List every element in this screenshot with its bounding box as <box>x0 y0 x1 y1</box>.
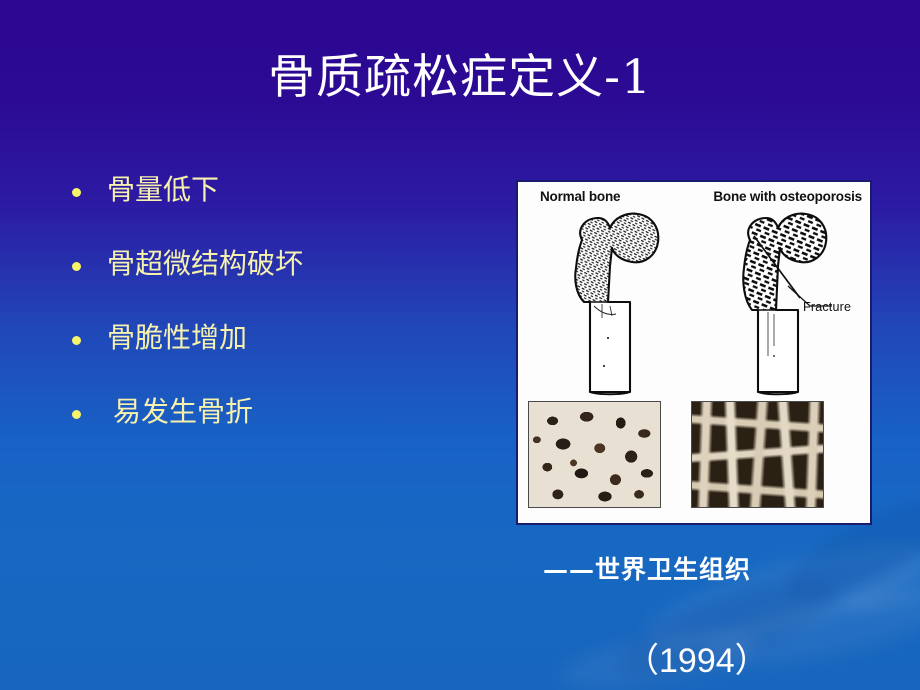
caption-osteoporotic-bone: Bone with osteoporosis <box>711 189 870 204</box>
micrograph-osteoporotic-texture <box>692 402 823 507</box>
bone-diagrams: Fracture <box>518 204 870 399</box>
bullet-dot-icon <box>72 188 81 197</box>
bullet-label: 骨量低下 <box>107 174 219 206</box>
bone-micrographs <box>518 399 870 519</box>
bullet-dot-icon <box>72 410 81 419</box>
bullet-item: 骨量低下 <box>72 174 492 248</box>
fracture-annotation-label: Fracture <box>803 300 851 314</box>
bullet-item: 骨超微结构破坏 <box>72 248 492 322</box>
slide-canvas: 骨质疏松症定义-1 骨量低下 骨超微结构破坏 骨脆性增加 易发生骨折 Norma… <box>0 0 920 690</box>
bullet-label: 骨脆性增加 <box>107 322 247 354</box>
bullet-label: 骨超微结构破坏 <box>107 248 303 280</box>
figure-panel: Normal bone Bone with osteoporosis <box>516 180 872 525</box>
bullet-dot-icon <box>72 262 81 271</box>
caption-normal-bone: Normal bone <box>518 189 711 204</box>
bullet-item: 骨脆性增加 <box>72 322 492 396</box>
attribution-source: ——世界卫生组织 <box>543 552 863 588</box>
attribution-year: （1994） <box>625 633 769 682</box>
bullet-label: 易发生骨折 <box>113 396 253 428</box>
figure-captions: Normal bone Bone with osteoporosis <box>518 182 870 204</box>
slide-title: 骨质疏松症定义-1 <box>0 52 920 104</box>
micrograph-normal-bone <box>528 401 661 508</box>
micrograph-osteoporotic-bone <box>691 401 824 508</box>
micrograph-normal-texture <box>529 402 660 507</box>
bullet-list: 骨量低下 骨超微结构破坏 骨脆性增加 易发生骨折 <box>72 174 492 470</box>
bullet-dot-icon <box>72 336 81 345</box>
normal-femur-diagram <box>546 206 676 396</box>
bullet-item: 易发生骨折 <box>72 396 492 470</box>
